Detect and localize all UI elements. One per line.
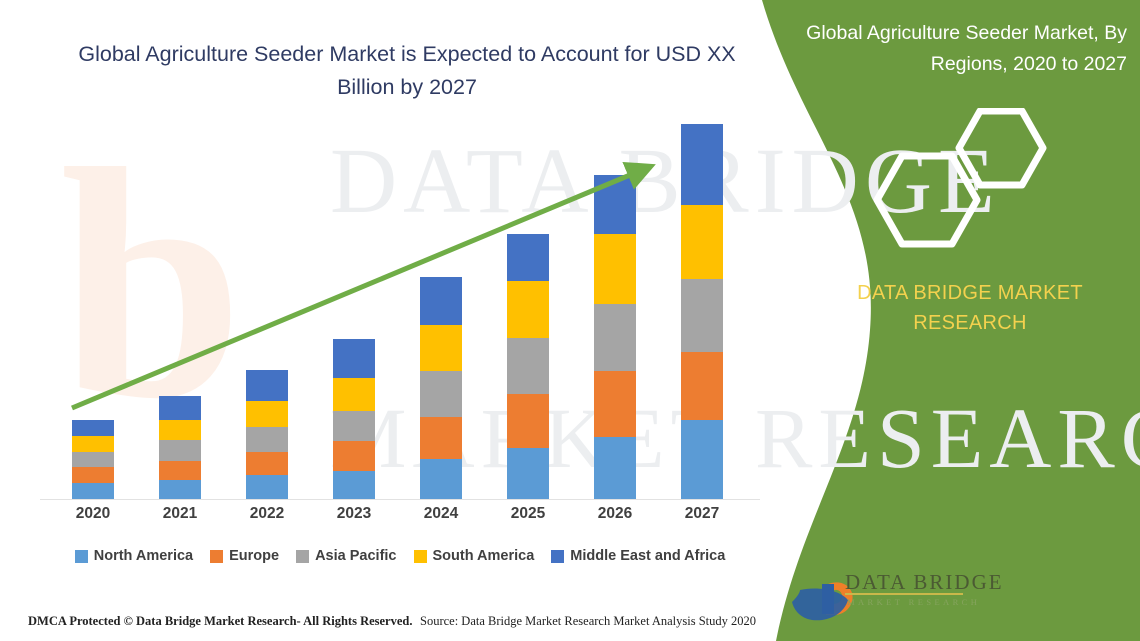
bar-segment [159, 480, 201, 499]
bar-segment [246, 370, 288, 400]
bar-segment [159, 440, 201, 460]
bar-segment [246, 427, 288, 452]
bar-2020 [72, 420, 114, 499]
bar-segment [420, 417, 462, 460]
legend-swatch-icon [551, 550, 564, 563]
bar-2024 [420, 277, 462, 499]
legend-swatch-icon [75, 550, 88, 563]
chart-bars-container [40, 120, 760, 499]
chart-x-axis-labels: 20202021202220232024202520262027 [40, 505, 760, 531]
bar-segment [681, 124, 723, 205]
bar-2022 [246, 370, 288, 499]
bar-segment [333, 378, 375, 411]
bar-segment [681, 205, 723, 278]
bar-segment [420, 325, 462, 371]
bar-segment [594, 437, 636, 499]
legend-label: Middle East and Africa [570, 548, 725, 564]
x-axis-label-2023: 2023 [324, 505, 384, 523]
bar-segment [246, 452, 288, 476]
bar-segment [507, 281, 549, 337]
legend-label: Asia Pacific [315, 548, 396, 564]
legend-item[interactable]: Asia Pacific [296, 548, 396, 564]
legend-item[interactable]: Europe [210, 548, 279, 564]
bar-segment [72, 483, 114, 499]
x-axis-label-2021: 2021 [150, 505, 210, 523]
bar-segment [420, 277, 462, 326]
bar-segment [333, 441, 375, 470]
stacked-bar-chart [40, 120, 760, 500]
bar-segment [72, 436, 114, 452]
bar-segment [507, 234, 549, 281]
legend-item[interactable]: North America [75, 548, 193, 564]
legend-item[interactable]: South America [414, 548, 535, 564]
legend-label: South America [433, 548, 535, 564]
hexagon-2027-shape [877, 156, 977, 244]
bar-segment [594, 234, 636, 304]
bar-segment [681, 420, 723, 499]
hexagon-group [862, 108, 1062, 248]
logo-title: DATA BRIDGE [845, 570, 1004, 595]
bar-segment [72, 452, 114, 468]
bar-segment [72, 467, 114, 483]
x-axis-label-2020: 2020 [63, 505, 123, 523]
legend-item[interactable]: Middle East and Africa [551, 548, 725, 564]
bar-segment [681, 279, 723, 352]
legend-label: Europe [229, 548, 279, 564]
bar-2026 [594, 175, 636, 499]
hexagon-2020-shape [959, 111, 1043, 185]
brand-name: DATA BRIDGE MARKET RESEARCH [840, 278, 1100, 338]
legend-swatch-icon [296, 550, 309, 563]
x-axis-label-2022: 2022 [237, 505, 297, 523]
legend-swatch-icon [210, 550, 223, 563]
bar-segment [420, 371, 462, 416]
bar-segment [507, 448, 549, 499]
footer-copyright: DMCA Protected © Data Bridge Market Rese… [28, 614, 413, 629]
bar-segment [333, 411, 375, 441]
bar-segment [507, 394, 549, 448]
bar-2027 [681, 124, 723, 499]
bar-2023 [333, 339, 375, 499]
logo-subtitle: MARKET RESEARCH [847, 597, 980, 607]
bar-2021 [159, 396, 201, 499]
footer-source: Source: Data Bridge Market Research Mark… [420, 614, 756, 629]
bar-segment [159, 420, 201, 440]
chart-baseline [40, 499, 760, 500]
bar-segment [594, 175, 636, 234]
infographic-canvas: b DATA BRIDGE MARKET RESEARCH Global Agr… [0, 0, 1140, 641]
bar-segment [594, 371, 636, 437]
x-axis-label-2027: 2027 [672, 505, 732, 523]
chart-legend: North AmericaEuropeAsia PacificSouth Ame… [40, 548, 760, 564]
bar-segment [159, 396, 201, 420]
bar-segment [72, 420, 114, 436]
x-axis-label-2026: 2026 [585, 505, 645, 523]
brand-line-2: RESEARCH [840, 308, 1100, 338]
bar-segment [159, 461, 201, 480]
bar-segment [681, 352, 723, 420]
bar-segment [333, 471, 375, 499]
bar-segment [507, 338, 549, 394]
brand-line-1: DATA BRIDGE MARKET [840, 278, 1100, 308]
bar-2025 [507, 234, 549, 499]
legend-label: North America [94, 548, 193, 564]
x-axis-label-2025: 2025 [498, 505, 558, 523]
page-title: Global Agriculture Seeder Market is Expe… [62, 38, 752, 104]
legend-swatch-icon [414, 550, 427, 563]
right-panel-title: Global Agriculture Seeder Market, By Reg… [795, 18, 1127, 80]
bar-segment [420, 459, 462, 499]
x-axis-label-2024: 2024 [411, 505, 471, 523]
bar-segment [246, 401, 288, 427]
bar-segment [594, 304, 636, 372]
bar-segment [246, 475, 288, 499]
bar-segment [333, 339, 375, 379]
logo-divider [845, 593, 963, 595]
